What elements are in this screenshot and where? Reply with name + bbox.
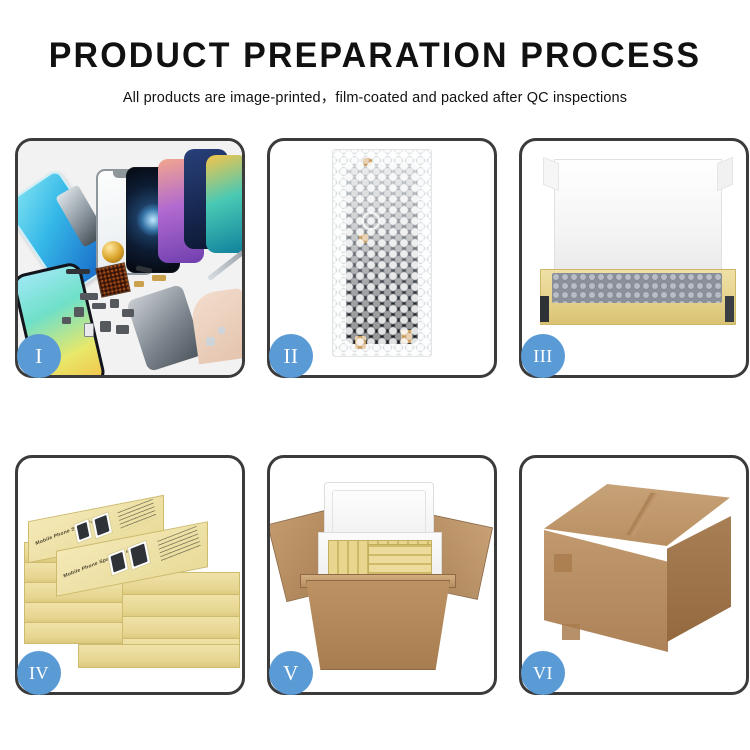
small-part [116,325,129,334]
chip-grid-part [95,262,131,298]
small-part [84,323,94,337]
box-label-thumb [127,540,151,571]
box-stack: Mobile Phone Spare Parts Mobile Phone Sp… [22,480,238,672]
box-left-edge [540,296,549,322]
phone-teal [206,155,242,253]
gold-coil-part [102,241,124,263]
box-label-thumb [91,511,113,540]
carton-tape-lower [562,624,580,640]
stacked-box [24,622,126,644]
stacked-box [24,602,126,624]
phone-back-housing [126,284,204,372]
stacked-box [78,644,240,668]
process-step-card-5[interactable]: V [267,455,497,695]
step-badge-5: V [269,651,313,695]
process-step-card-2[interactable]: II [267,138,497,378]
stacked-box [122,616,240,640]
stacked-box [122,594,240,618]
small-part [152,275,166,281]
small-part [92,303,106,309]
speaker-part [66,269,90,274]
box-label-lines [157,526,200,562]
carton-body [306,580,450,670]
bubble-wrap-bag [332,149,432,357]
screw-part [206,337,215,346]
page-subtitle: All products are image-printed，film-coat… [0,86,750,107]
step-badge-4: IV [17,651,61,695]
page-header: PRODUCT PREPARATION PROCESS All products… [0,0,750,107]
small-part [74,307,84,317]
process-step-card-6[interactable]: VI [519,455,749,695]
box-right-edge [725,296,734,322]
bubble-texture-front [333,150,431,356]
step-badge-2: II [269,334,313,378]
small-part [80,293,98,300]
step-badge-1: I [17,334,61,378]
process-step-card-1[interactable]: I [15,138,245,378]
screw-part [218,327,225,334]
grey-bubble-foam [552,273,722,303]
process-steps-grid: I II III [15,138,735,695]
small-part [62,317,71,324]
box-white-lid [554,159,722,281]
step-badge-6: VI [521,651,565,695]
technician-hand [189,288,242,365]
step-badge-3: III [521,334,565,378]
small-part [100,321,111,332]
tweezer-tool [207,250,242,281]
box-label-lines [117,499,156,532]
small-part [110,299,119,308]
carton-tape-upper [554,554,572,572]
process-step-card-4[interactable]: Mobile Phone Spare Parts Mobile Phone Sp… [15,455,245,695]
small-part [122,309,134,317]
page-title: PRODUCT PREPARATION PROCESS [11,38,739,75]
process-step-card-3[interactable]: III [519,138,749,378]
small-part [134,281,144,287]
